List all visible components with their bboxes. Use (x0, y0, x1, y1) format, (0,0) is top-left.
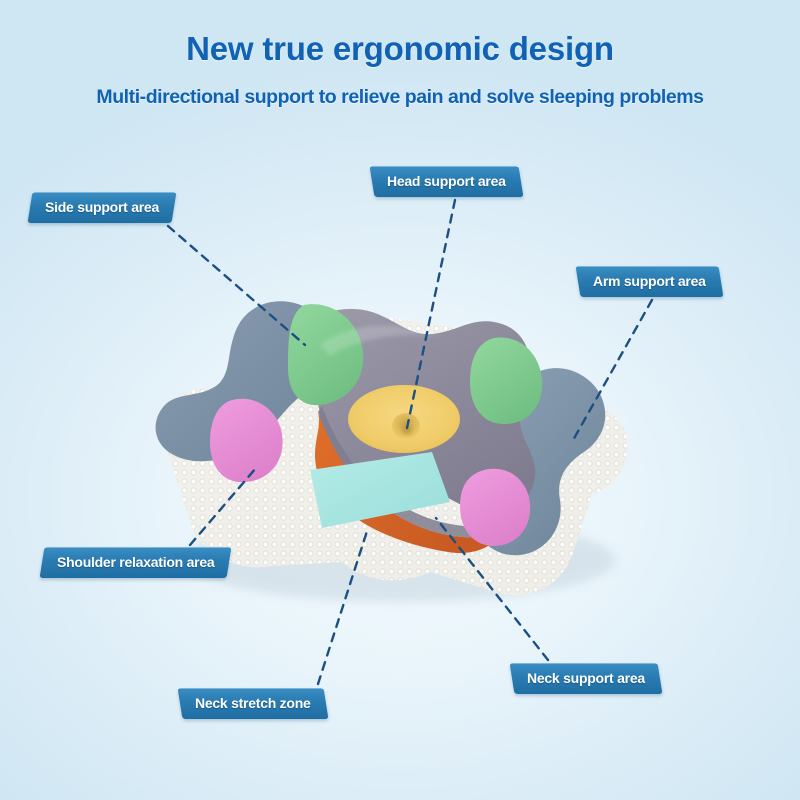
zone-neck-support (460, 469, 530, 546)
callout-label: Side support area (45, 192, 159, 223)
callout-shoulder-relaxation-area[interactable]: Shoulder relaxation area (40, 547, 232, 578)
callout-side-support-area[interactable]: Side support area (28, 192, 177, 223)
callout-head-support-area[interactable]: Head support area (370, 166, 524, 197)
callout-neck-support-area[interactable]: Neck support area (510, 663, 663, 694)
infographic-canvas: New true ergonomic design Multi-directio… (0, 0, 800, 800)
callout-label: Shoulder relaxation area (57, 547, 214, 578)
callout-neck-stretch-zone[interactable]: Neck stretch zone (178, 688, 328, 719)
page-title: New true ergonomic design (0, 30, 800, 68)
callout-label: Arm support area (593, 266, 706, 297)
zone-arm-support (470, 337, 542, 424)
callout-label: Head support area (387, 166, 506, 197)
pillow-illustration (0, 0, 800, 800)
head-zone-depression (392, 413, 420, 439)
callout-arm-support-area[interactable]: Arm support area (576, 266, 724, 297)
callout-label: Neck support area (527, 663, 645, 694)
page-subtitle: Multi-directional support to relieve pai… (0, 86, 800, 109)
head-zone-depression-core (402, 426, 412, 434)
callout-label: Neck stretch zone (195, 688, 311, 719)
